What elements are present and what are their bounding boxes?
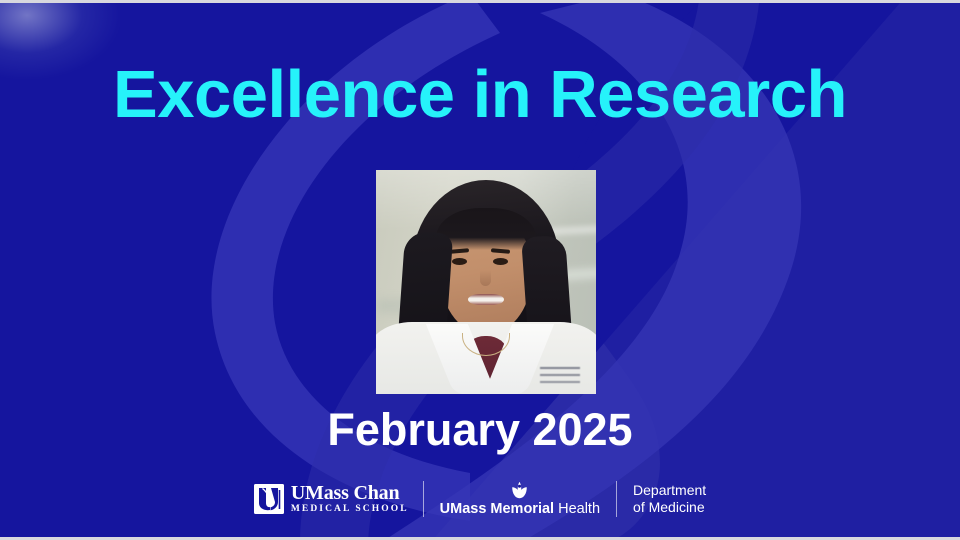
umass-chan-wordmark: UMass Chan MEDICAL SCHOOL bbox=[291, 483, 409, 515]
umass-memorial-wordmark: UMass Memorial Health bbox=[440, 502, 600, 517]
presentation-slide: Excellence in Research February 2025 bbox=[0, 0, 960, 540]
slide-title: Excellence in Research bbox=[0, 61, 960, 128]
umass-memorial-health-word: Health bbox=[558, 501, 600, 517]
umass-memorial-health-logo: UMass Memorial Health bbox=[424, 481, 616, 517]
department-of-medicine-logo: Department of Medicine bbox=[617, 482, 706, 517]
department-line-2: of Medicine bbox=[633, 499, 706, 517]
person-eye bbox=[452, 258, 467, 265]
umass-chan-u-emblem-icon bbox=[254, 484, 284, 514]
person-smile bbox=[468, 294, 504, 305]
umass-memorial-tulip-icon bbox=[511, 481, 528, 499]
logo-lockup-bar: UMass Chan MEDICAL SCHOOL UMass Memorial… bbox=[0, 481, 960, 517]
department-line-1: Department bbox=[633, 482, 706, 500]
slide-date: February 2025 bbox=[0, 407, 960, 452]
umass-chan-logo: UMass Chan MEDICAL SCHOOL bbox=[254, 483, 423, 515]
umass-memorial-name: UMass Memorial bbox=[440, 501, 554, 517]
lab-coat-embroidery bbox=[540, 364, 580, 388]
person-eye bbox=[493, 258, 508, 265]
portrait-photo bbox=[376, 170, 596, 394]
person-nose bbox=[480, 270, 491, 286]
umass-chan-name: UMass Chan bbox=[291, 483, 409, 503]
umass-chan-subtitle: MEDICAL SCHOOL bbox=[291, 505, 409, 515]
